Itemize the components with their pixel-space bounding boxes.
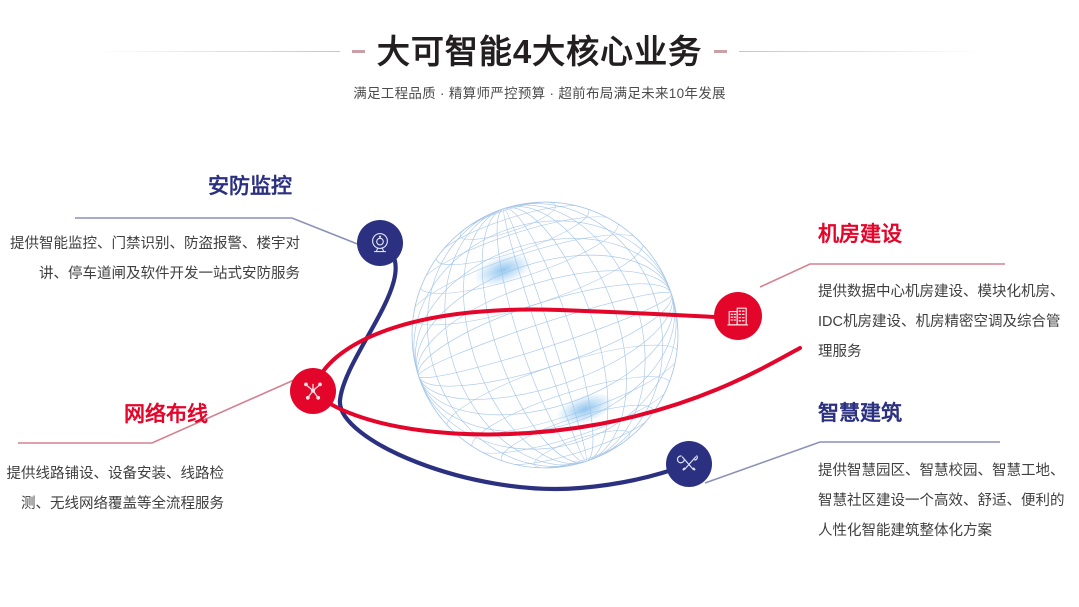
- body-security: 提供智能监控、门禁识别、防盗报警、楼宇对讲、停车道闸及软件开发一站式安防服务: [0, 229, 300, 289]
- heading-security: 安防监控: [0, 176, 300, 197]
- block-cabling: 网络布线 提供线路铺设、设备安装、线路检测、无线网络覆盖等全流程服务: [0, 404, 224, 519]
- crossed-tools-icon: [676, 451, 702, 477]
- block-security: 安防监控 提供智能监控、门禁识别、防盗报警、楼宇对讲、停车道闸及软件开发一站式安…: [0, 176, 300, 289]
- heading-building: 智慧建筑: [818, 403, 1070, 424]
- block-building: 智慧建筑 提供智慧园区、智慧校园、智慧工地、智慧社区建设一个高效、舒适、便利的人…: [818, 403, 1070, 546]
- dome-camera-icon: [367, 230, 393, 256]
- body-datacenter: 提供数据中心机房建设、模块化机房、IDC机房建设、机房精密空调及综合管理服务: [818, 277, 1070, 367]
- block-datacenter: 机房建设 提供数据中心机房建设、模块化机房、IDC机房建设、机房精密空调及综合管…: [818, 224, 1070, 367]
- body-building: 提供智慧园区、智慧校园、智慧工地、智慧社区建设一个高效、舒适、便利的人性化智能建…: [818, 456, 1070, 546]
- heading-datacenter: 机房建设: [818, 224, 1070, 245]
- badge-datacenter[interactable]: [714, 292, 762, 340]
- heading-cabling: 网络布线: [0, 404, 224, 425]
- body-cabling: 提供线路铺设、设备安装、线路检测、无线网络覆盖等全流程服务: [0, 459, 224, 519]
- badge-security[interactable]: [357, 220, 403, 266]
- badge-cabling[interactable]: [290, 368, 336, 414]
- badge-building[interactable]: [666, 441, 712, 487]
- network-nodes-icon: [300, 378, 326, 404]
- wireframe-globe: [377, 167, 712, 502]
- server-building-icon: [725, 303, 751, 329]
